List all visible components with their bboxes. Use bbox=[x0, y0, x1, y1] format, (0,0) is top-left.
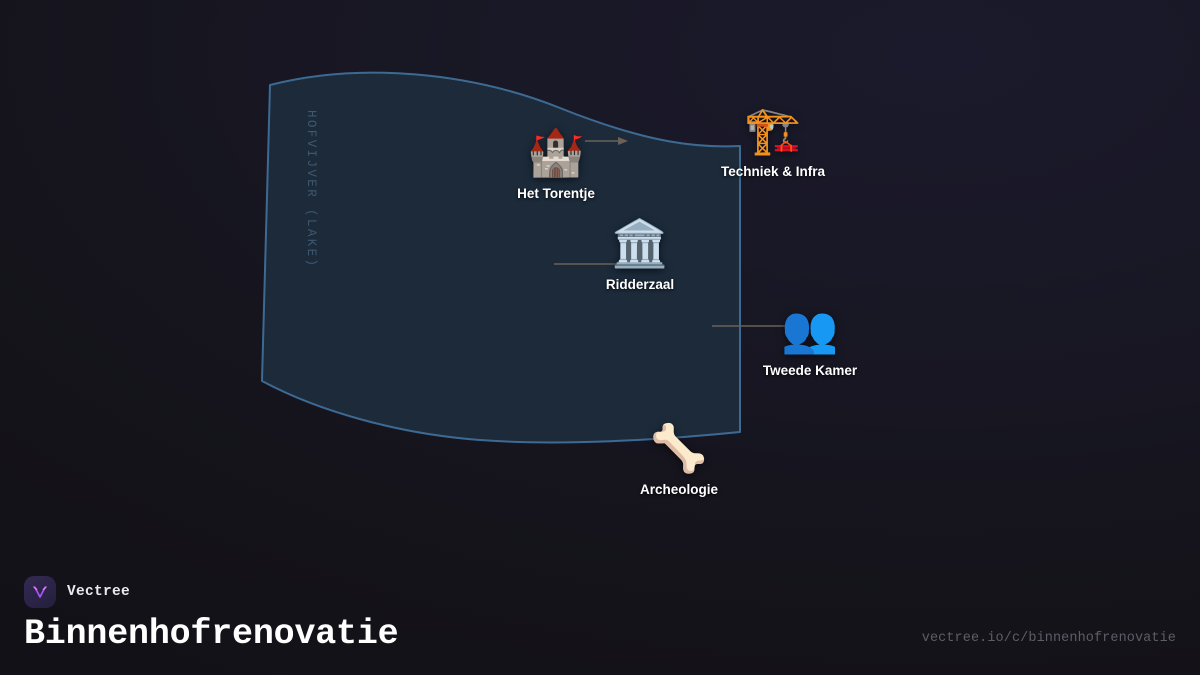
footer-left-group: Vectree Binnenhofrenovatie bbox=[24, 576, 398, 653]
map-node-label: Archeologie bbox=[640, 482, 718, 497]
brand-name: Vectree bbox=[67, 584, 130, 600]
busts-in-silhouette-icon: 👥 bbox=[781, 306, 838, 352]
vectree-logo-icon bbox=[24, 576, 56, 608]
construction-crane-icon: 🏗️ bbox=[744, 107, 801, 153]
map-node-label: Techniek & Infra bbox=[721, 164, 825, 179]
footer: Vectree Binnenhofrenovatie vectree.io/c/… bbox=[0, 555, 1200, 675]
classical-building-icon: 🏛️ bbox=[611, 220, 668, 266]
bone-icon: 🦴 bbox=[650, 425, 707, 471]
map-node-het-torentje[interactable]: 🏰 Het Torentje bbox=[517, 129, 595, 201]
footer-url: vectree.io/c/binnenhofrenovatie bbox=[922, 631, 1176, 653]
castle-icon: 🏰 bbox=[527, 129, 584, 175]
map-node-ridderzaal[interactable]: 🏛️ Ridderzaal bbox=[606, 220, 674, 292]
brand-row[interactable]: Vectree bbox=[24, 576, 398, 608]
map-node-label: Ridderzaal bbox=[606, 277, 674, 292]
map-node-tweede-kamer[interactable]: 👥 Tweede Kamer bbox=[763, 306, 857, 378]
map-node-label: Het Torentje bbox=[517, 186, 595, 201]
map-node-archeologie[interactable]: 🦴 Archeologie bbox=[640, 425, 718, 497]
map-node-techniek-en-infra[interactable]: 🏗️ Techniek & Infra bbox=[721, 107, 825, 179]
water-body-label: HOFVIJVER (LAKE) bbox=[304, 110, 318, 268]
map-node-label: Tweede Kamer bbox=[763, 363, 857, 378]
page-title: Binnenhofrenovatie bbox=[24, 616, 398, 653]
